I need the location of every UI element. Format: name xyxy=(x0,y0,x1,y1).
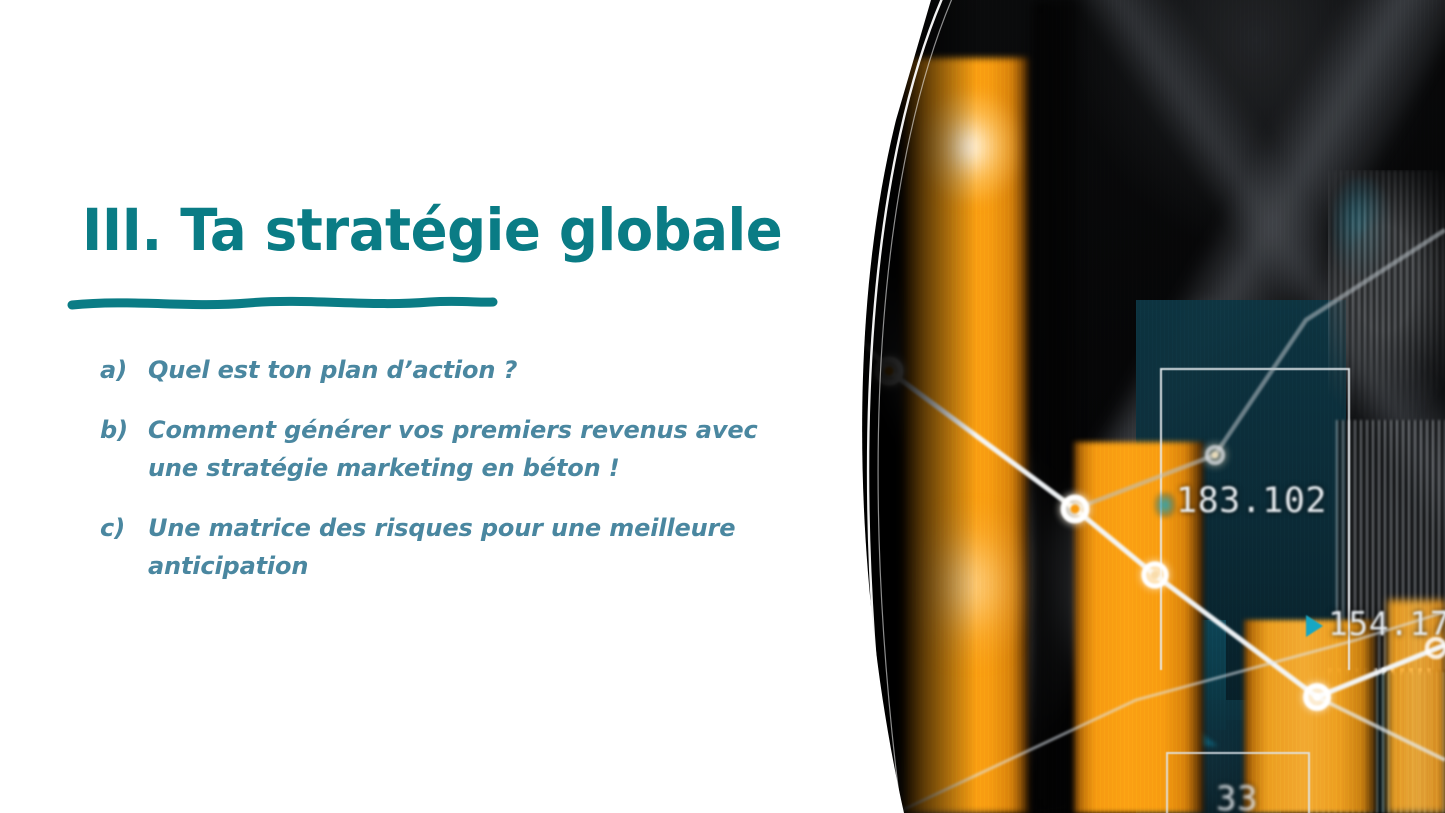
photo-clip-region: 183.102 154.17 33 xyxy=(836,0,1445,813)
list-item: a) Quel est ton plan d’action ? xyxy=(100,352,800,390)
list-item-marker: c) xyxy=(100,510,148,548)
page-title: III. Ta stratégie globale xyxy=(82,196,782,264)
decorative-photo-panel: 183.102 154.17 33 xyxy=(836,0,1445,813)
list-item-marker: a) xyxy=(100,352,148,390)
list-item-label: Comment générer vos premiers revenus ave… xyxy=(148,412,788,488)
list-item-label: Une matrice des risques pour une meilleu… xyxy=(148,510,788,586)
title-underline-squiggle xyxy=(70,290,495,316)
trend-polyline xyxy=(836,0,1445,813)
bullet-list: a) Quel est ton plan d’action ? b) Comme… xyxy=(100,352,800,608)
slide-canvas: III. Ta stratégie globale a) Quel est to… xyxy=(0,0,1445,813)
list-item-marker: b) xyxy=(100,412,148,450)
list-item: c) Une matrice des risques pour une meil… xyxy=(100,510,800,586)
photo-content: 183.102 154.17 33 xyxy=(836,0,1445,813)
list-item-label: Quel est ton plan d’action ? xyxy=(148,352,788,390)
text-column: III. Ta stratégie globale a) Quel est to… xyxy=(0,0,830,813)
list-item: b) Comment générer vos premiers revenus … xyxy=(100,412,800,488)
